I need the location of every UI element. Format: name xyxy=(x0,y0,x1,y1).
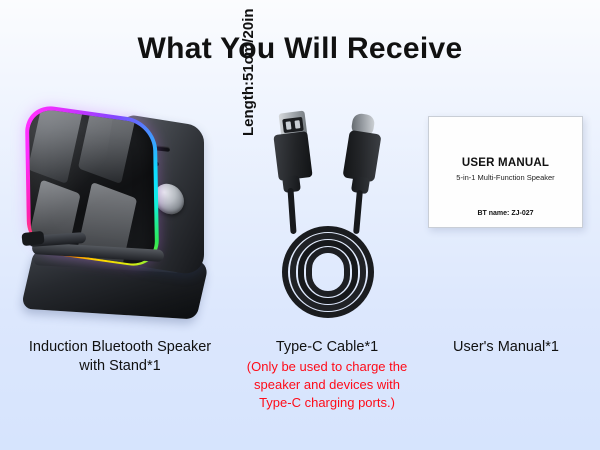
item-manual: USER MANUAL 5-in-1 Multi-Function Speake… xyxy=(412,100,600,325)
cable-length-label: Length:51cm/20in xyxy=(240,8,257,136)
usb-a-slot xyxy=(282,117,304,133)
manual-illustration: USER MANUAL 5-in-1 Multi-Function Speake… xyxy=(412,100,600,325)
usb-a-pin xyxy=(294,120,300,129)
manual-cover-subtitle: 5-in-1 Multi-Function Speaker xyxy=(429,173,582,182)
speaker-product-image xyxy=(18,106,223,321)
cable-note-line2: speaker and devices with xyxy=(232,376,422,393)
cable-caption-line1: Type-C Cable*1 xyxy=(232,338,422,357)
cable-product-image: Length:51cm/20in xyxy=(256,100,406,320)
cable-note-line3: Type-C charging ports.) xyxy=(232,394,422,411)
manual-bt-name: BT name: ZJ-027 xyxy=(429,210,582,217)
cable-loop xyxy=(306,247,350,297)
speaker-illustration xyxy=(0,100,240,325)
manual-cover: USER MANUAL 5-in-1 Multi-Function Speake… xyxy=(428,116,583,228)
item-cable: Length:51cm/20in xyxy=(232,100,422,325)
manual-cover-title: USER MANUAL xyxy=(429,157,582,169)
page-title: What You Will Receive xyxy=(0,32,600,66)
speaker-caption: Induction Bluetooth Speaker with Stand*1 xyxy=(0,338,240,376)
manual-caption-line1: User's Manual*1 xyxy=(412,338,600,357)
stand-foot xyxy=(21,231,44,246)
usb-a-housing xyxy=(273,131,312,181)
usb-c-housing xyxy=(342,130,381,182)
cable-coil xyxy=(282,226,374,318)
speaker-caption-line1: Induction Bluetooth Speaker xyxy=(0,338,240,357)
item-speaker: Induction Bluetooth Speaker with Stand*1 xyxy=(0,100,240,325)
cable-note-line1: (Only be used to charge the xyxy=(232,358,422,375)
product-contents-infographic: What You Will Receive xyxy=(0,0,600,450)
cable-illustration: Length:51cm/20in xyxy=(232,100,422,325)
usb-a-pin xyxy=(286,121,292,130)
cable-caption: Type-C Cable*1 (Only be used to charge t… xyxy=(232,338,422,411)
manual-caption: User's Manual*1 xyxy=(412,338,600,357)
speaker-caption-line2: with Stand*1 xyxy=(0,357,240,376)
